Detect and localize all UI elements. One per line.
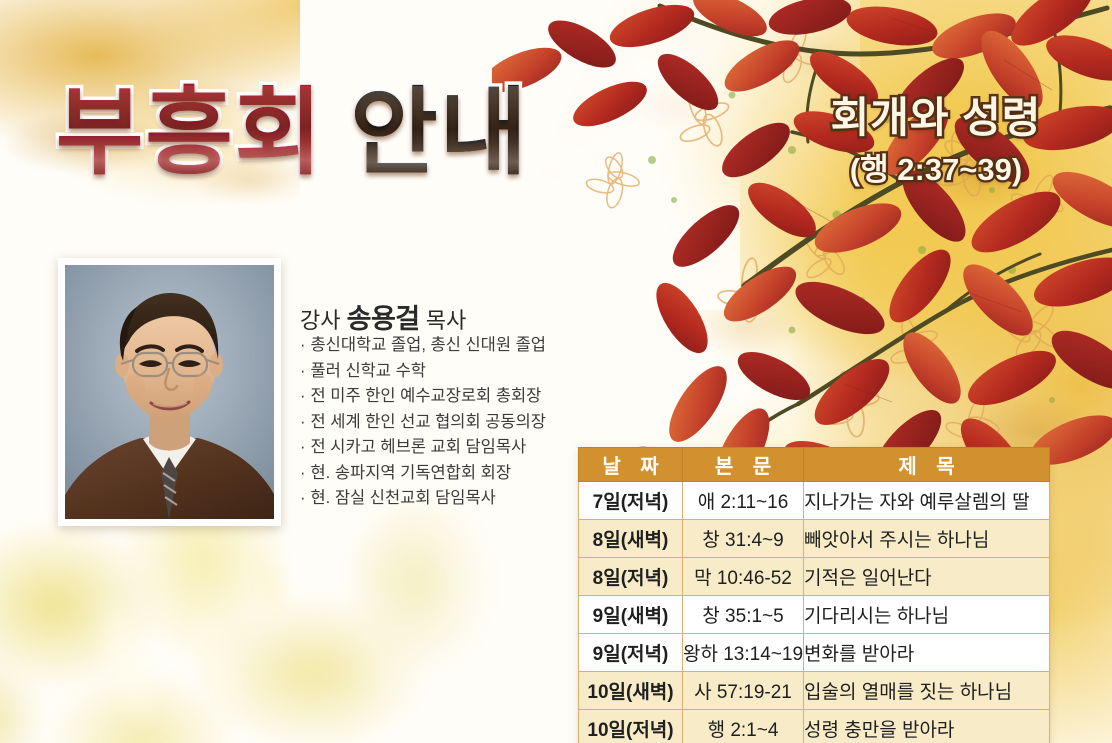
title-word-revival: 부흥회부흥회 [56, 86, 324, 181]
table-row: 8일(새벽) 창 31:4~9 빼앗아서 주시는 하나님 [579, 520, 1050, 558]
list-item: 전 미주 한인 예수교장로회 총회장 [300, 384, 546, 410]
speaker-photo [65, 265, 274, 519]
cell-topic: 기적은 일어난다 [804, 558, 1050, 596]
list-item: 현. 잠실 신천교회 담임목사 [300, 486, 546, 512]
speaker-heading: 강사 송용걸 목사 [300, 306, 546, 333]
schedule-table: 날 짜 본 문 제 목 7일(저녁) 애 2:11~16 지나가는 자와 예루살… [578, 447, 1050, 743]
title-revival-fill: 부흥회 [56, 86, 324, 181]
theme-title: 회개와 성령 [786, 96, 1086, 140]
list-item: 풀러 신학교 수학 [300, 359, 546, 385]
cell-date: 7일(저녁) [579, 482, 683, 520]
title-notice-fill: 안내 [350, 86, 529, 181]
cell-topic: 지나가는 자와 예루살렘의 딸 [804, 482, 1050, 520]
table-row: 8일(저녁) 막 10:46-52 기적은 일어난다 [579, 558, 1050, 596]
cell-topic: 성령 충만을 받아라 [804, 710, 1050, 743]
title-word-notice: 안내안내 [324, 86, 529, 181]
speaker-role-suffix: 목사 [426, 308, 466, 333]
table-header-row: 날 짜 본 문 제 목 [579, 448, 1050, 482]
cell-date: 10일(새벽) [579, 672, 683, 710]
cell-topic: 기다리시는 하나님 [804, 596, 1050, 634]
cell-topic: 입술의 열매를 짓는 하나님 [804, 672, 1050, 710]
speaker-role-prefix: 강사 [300, 308, 340, 333]
cell-date: 9일(저녁) [579, 634, 683, 672]
cell-date: 10일(저녁) [579, 710, 683, 743]
revival-meeting-poster: 부흥회부흥회안내안내 회개와 성령 (행 2:37~39) [0, 0, 1112, 743]
list-item: 전 시카고 헤브론 교회 담임목사 [300, 435, 546, 461]
poster-title: 부흥회부흥회안내안내 [56, 86, 529, 181]
cell-passage: 애 2:11~16 [683, 482, 804, 520]
cell-passage: 사 57:19-21 [683, 672, 804, 710]
table-row: 10일(저녁) 행 2:1~4 성령 충만을 받아라 [579, 710, 1050, 743]
speaker-bio-list: 총신대학교 졸업, 총신 신대원 졸업 풀러 신학교 수학 전 미주 한인 예수… [300, 333, 546, 512]
speaker-info: 강사 송용걸 목사 총신대학교 졸업, 총신 신대원 졸업 풀러 신학교 수학 … [300, 306, 546, 512]
cell-topic: 빼앗아서 주시는 하나님 [804, 520, 1050, 558]
cell-passage: 창 31:4~9 [683, 520, 804, 558]
cell-passage: 막 10:46-52 [683, 558, 804, 596]
table-row: 9일(새벽) 창 35:1~5 기다리시는 하나님 [579, 596, 1050, 634]
speaker-photo-frame [58, 258, 281, 526]
schedule-table-head: 날 짜 본 문 제 목 [579, 448, 1050, 482]
cell-passage: 왕하 13:14~19 [683, 634, 804, 672]
column-header-passage: 본 문 [683, 448, 804, 482]
cell-date: 9일(새벽) [579, 596, 683, 634]
list-item: 전 세계 한인 선교 협의회 공동의장 [300, 410, 546, 436]
list-item: 총신대학교 졸업, 총신 신대원 졸업 [300, 333, 546, 359]
cell-passage: 창 35:1~5 [683, 596, 804, 634]
speaker-portrait-illustration [65, 265, 274, 519]
theme-scripture-reference: (행 2:37~39) [786, 144, 1086, 189]
cell-date: 8일(새벽) [579, 520, 683, 558]
cell-date: 8일(저녁) [579, 558, 683, 596]
theme-block: 회개와 성령 (행 2:37~39) [786, 96, 1086, 189]
cell-passage: 행 2:1~4 [683, 710, 804, 743]
table-row: 9일(저녁) 왕하 13:14~19 변화를 받아라 [579, 634, 1050, 672]
speaker-name: 송용걸 [347, 304, 420, 334]
list-item: 현. 송파지역 기독연합회 회장 [300, 461, 546, 487]
table-row: 7일(저녁) 애 2:11~16 지나가는 자와 예루살렘의 딸 [579, 482, 1050, 520]
column-header-topic: 제 목 [804, 448, 1050, 482]
table-row: 10일(새벽) 사 57:19-21 입술의 열매를 짓는 하나님 [579, 672, 1050, 710]
schedule-table-body: 7일(저녁) 애 2:11~16 지나가는 자와 예루살렘의 딸 8일(새벽) … [579, 482, 1050, 743]
column-header-date: 날 짜 [579, 448, 683, 482]
cell-topic: 변화를 받아라 [804, 634, 1050, 672]
